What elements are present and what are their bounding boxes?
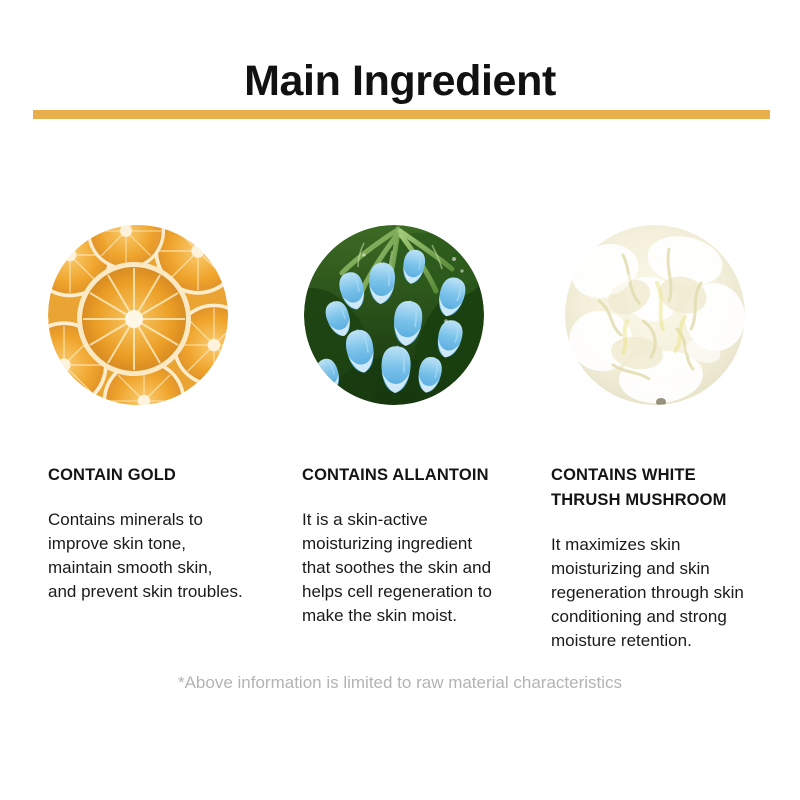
orange-slices-photo [48, 225, 228, 405]
ingredient-description: Contains minerals to improve skin tone, … [48, 508, 298, 604]
ingredient-card-gold: CONTAIN GOLD Contains minerals to improv… [48, 225, 298, 604]
ingredient-card-mushroom: CONTAINS WHITE THRUSH MUSHROOM It maximi… [551, 225, 800, 653]
blue-comfrey-flowers-photo [304, 225, 484, 405]
ingredient-columns: CONTAIN GOLD Contains minerals to improv… [0, 225, 800, 685]
ingredient-heading: CONTAINS ALLANTOIN [302, 463, 552, 488]
ingredient-description: It maximizes skin moisturizing and skin … [551, 533, 800, 653]
ingredient-heading: CONTAIN GOLD [48, 463, 298, 488]
white-thrush-mushroom-photo [565, 225, 745, 405]
gold-divider-rule [33, 110, 770, 119]
ingredient-description: It is a skin-active moisturizing ingredi… [302, 508, 552, 628]
ingredient-heading: CONTAINS WHITE THRUSH MUSHROOM [551, 463, 800, 513]
disclaimer-note: *Above information is limited to raw mat… [0, 673, 800, 693]
page-title: Main Ingredient [0, 57, 800, 106]
ingredient-card-allantoin: CONTAINS ALLANTOIN It is a skin-active m… [302, 225, 552, 628]
